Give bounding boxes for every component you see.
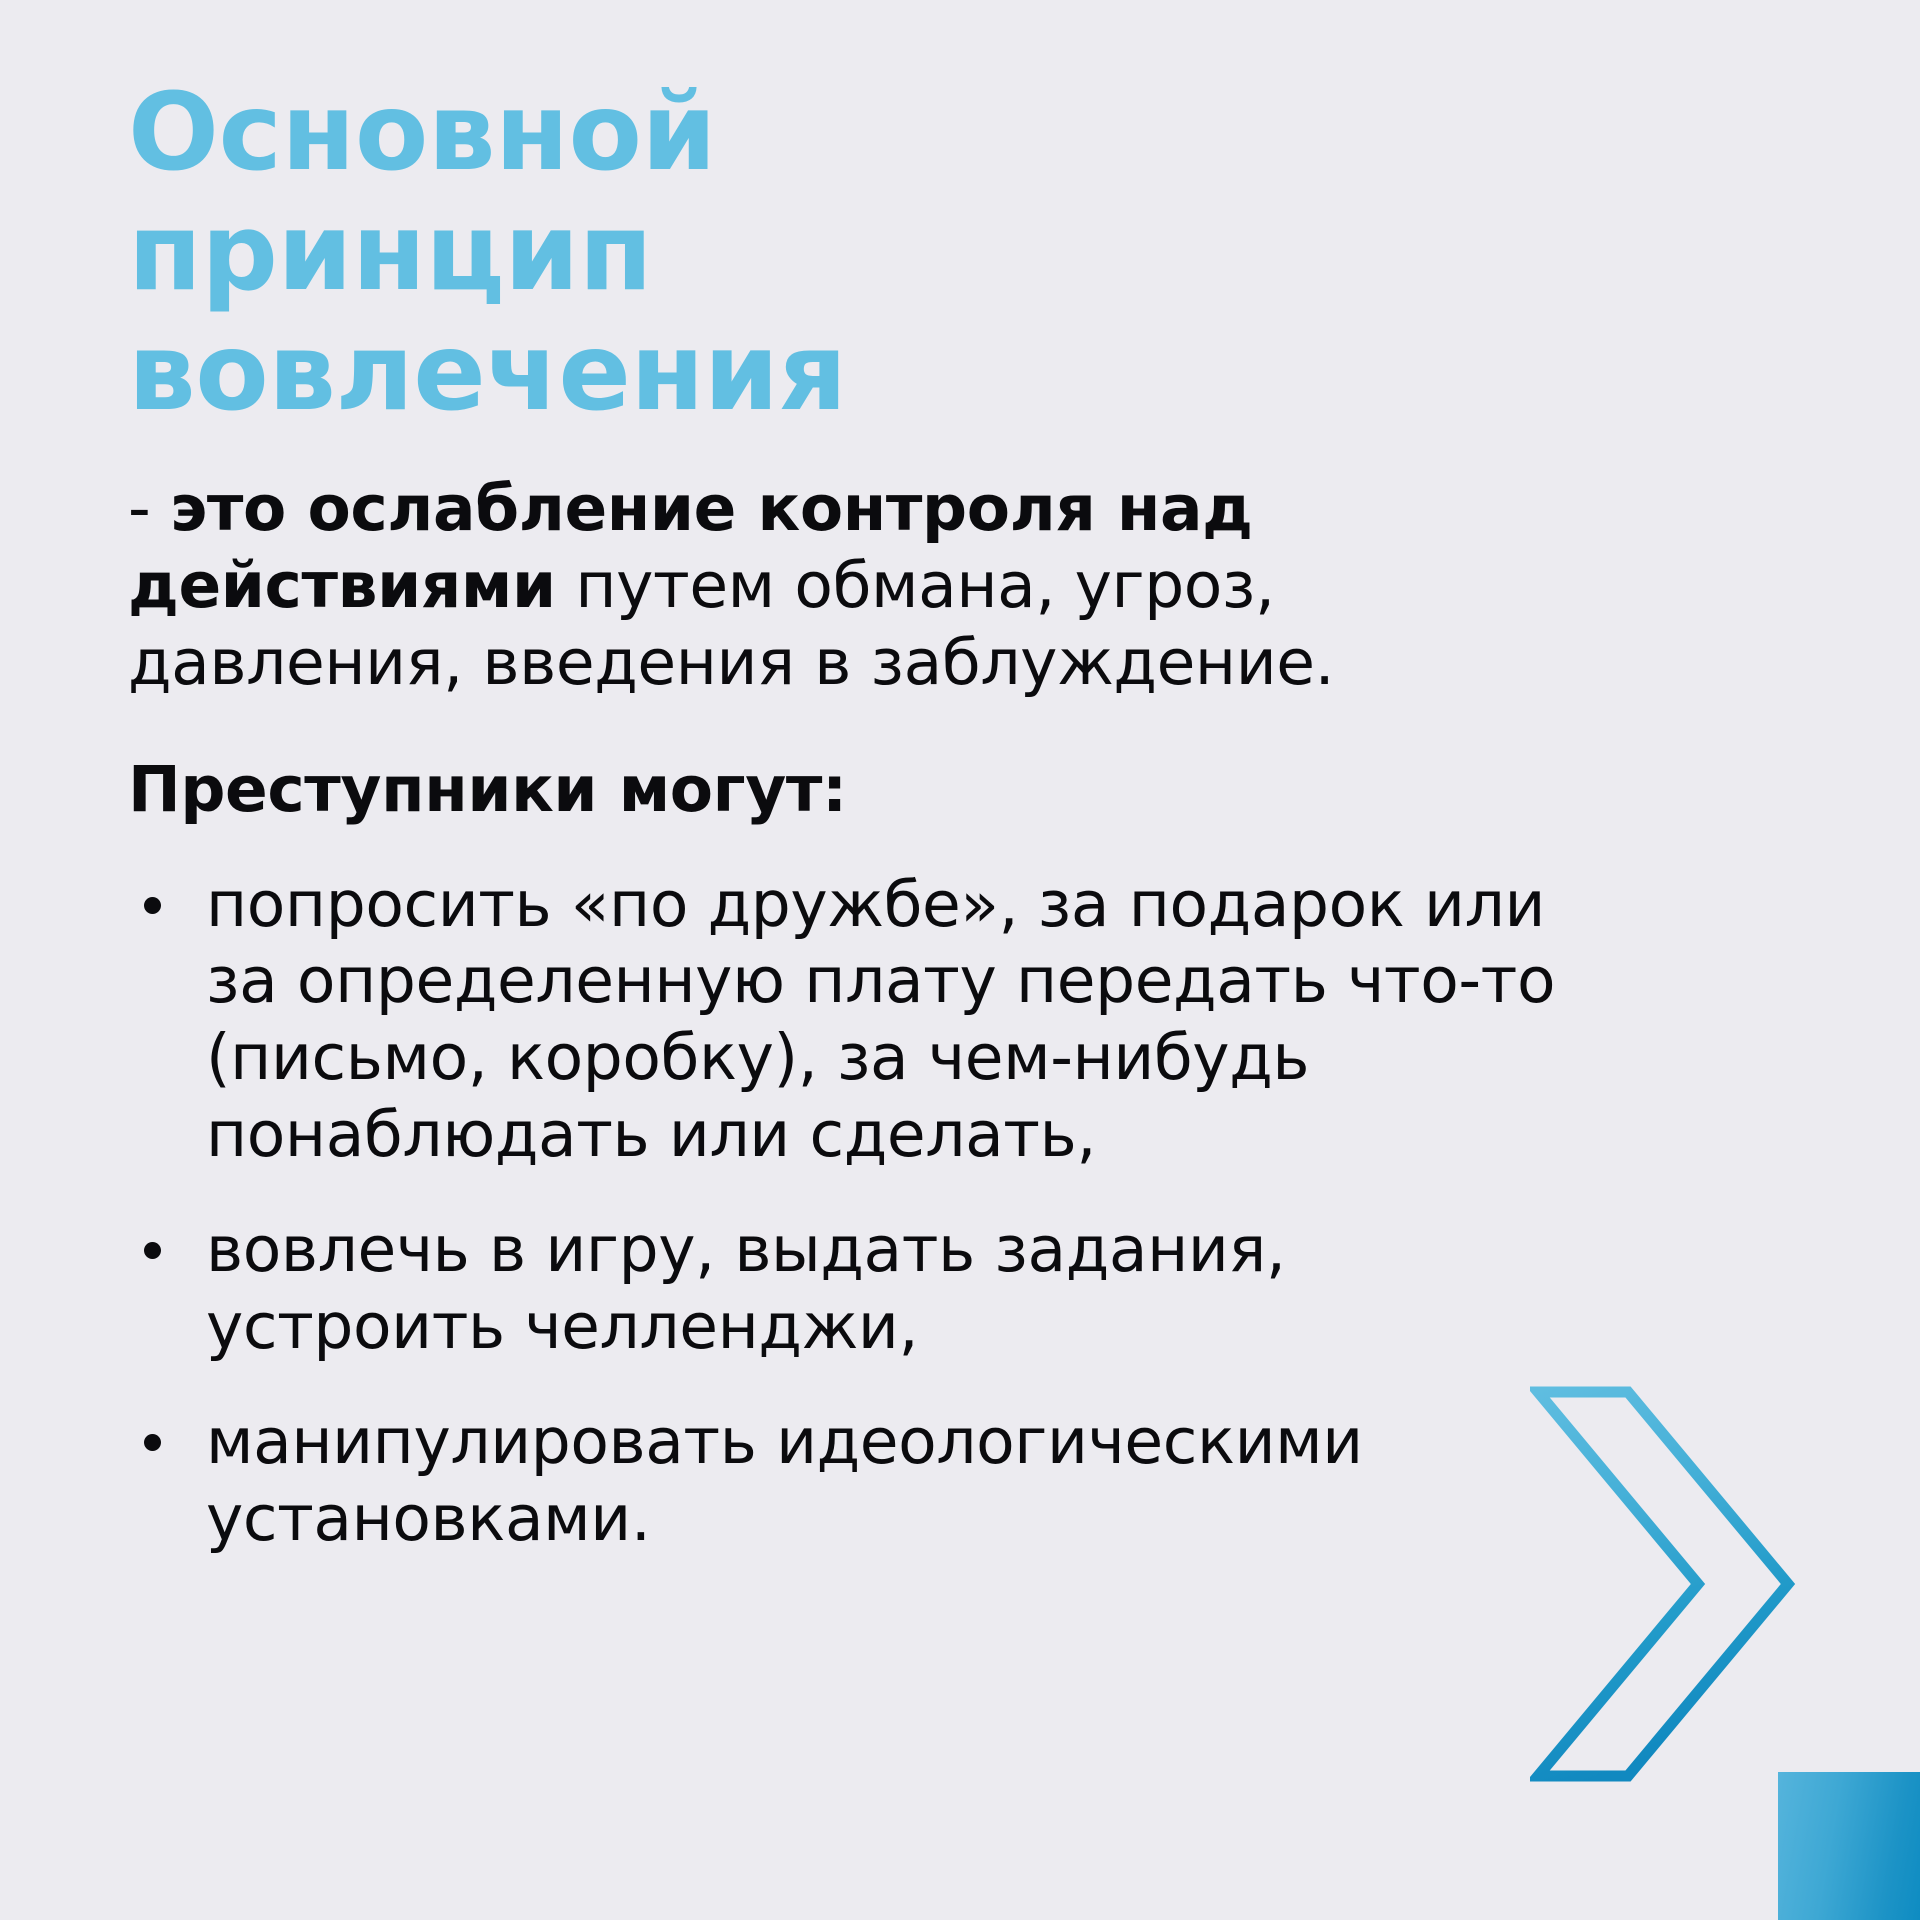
- list-item: манипулировать идеологическими установка…: [128, 1404, 1476, 1558]
- section-subheading: Преступники могут:: [128, 754, 1788, 826]
- list-item-label: попросить «по дружбе», за подарок или за…: [206, 868, 1555, 1172]
- list-item: вовлечь в игру, выдать задания, устроить…: [128, 1212, 1366, 1366]
- page-title: Основной принцип вовлечения: [128, 74, 1248, 433]
- bullet-dot-icon: [144, 897, 161, 914]
- lead-dash: -: [128, 472, 150, 545]
- slide-canvas: Основной принцип вовлечения - это ослабл…: [0, 0, 1920, 1920]
- bullet-list: попросить «по дружбе», за подарок или за…: [128, 867, 1788, 1558]
- slide-content: Основной принцип вовлечения - это ослабл…: [128, 74, 1788, 1557]
- lead-paragraph: - это ослабление контроля над действиями…: [128, 471, 1558, 702]
- list-item: попросить «по дружбе», за подарок или за…: [128, 867, 1596, 1174]
- list-item-label: вовлечь в игру, выдать задания, устроить…: [206, 1213, 1286, 1363]
- bullet-dot-icon: [144, 1434, 161, 1451]
- corner-accent-block: [1778, 1772, 1920, 1920]
- bullet-dot-icon: [144, 1242, 161, 1259]
- list-item-label: манипулировать идеологическими установка…: [206, 1405, 1363, 1555]
